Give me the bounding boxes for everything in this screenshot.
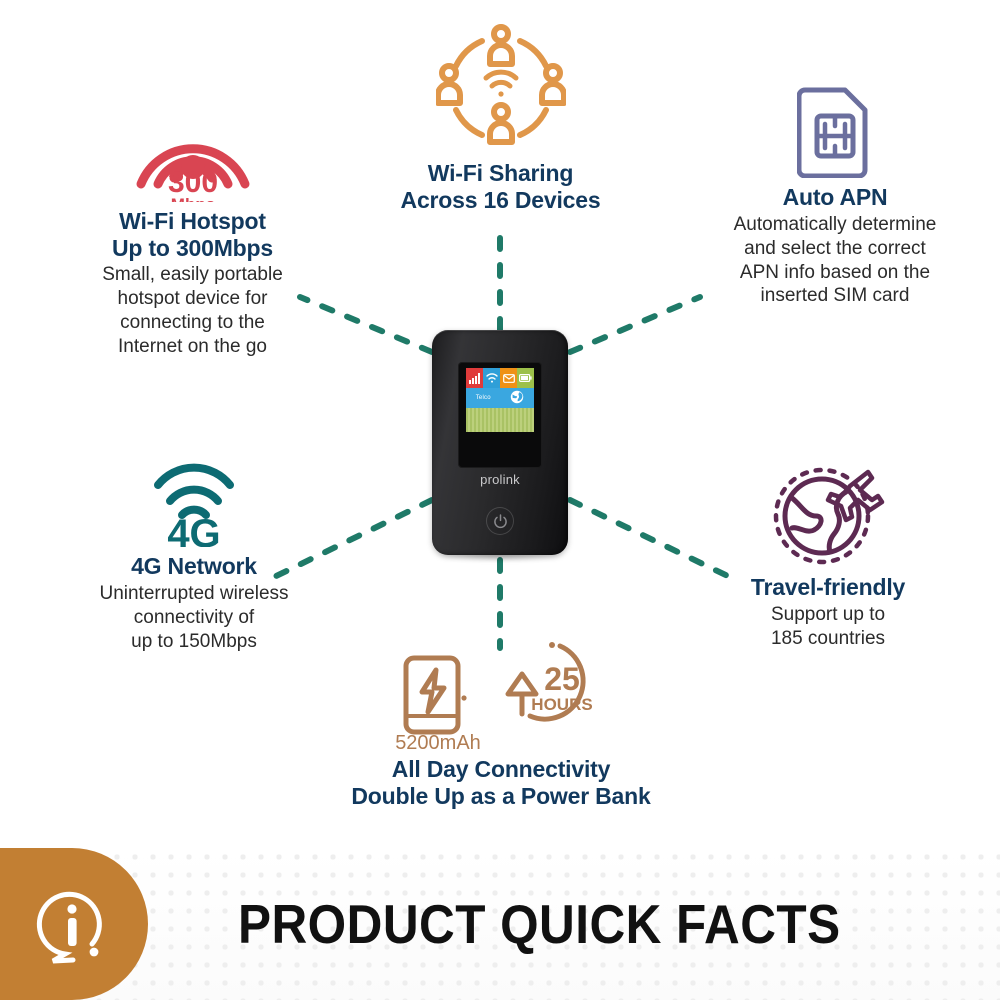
- globe-icon: [510, 390, 524, 406]
- mail-icon: [500, 368, 517, 388]
- feature-auto-apn: Auto APN Automatically determine and sel…: [690, 82, 980, 308]
- banner-title-text: PRODUCT QUICK FACTS: [238, 892, 841, 956]
- feature-travel-friendly-body: Support up to 185 countries: [692, 603, 964, 651]
- device-body: Telco proli: [432, 330, 568, 555]
- icon-label-4g: 4G: [167, 512, 220, 547]
- feature-power-bank: 5200mAh 25 HOURS All Day Connectivity Do…: [330, 638, 672, 811]
- feature-hotspot-title: Wi-Fi Hotspot Up to 300Mbps: [40, 208, 345, 261]
- icon-unit-mbps: Mbps: [170, 195, 214, 202]
- carrier-label: Telco: [476, 395, 491, 401]
- bottom-banner: PRODUCT QUICK FACTS: [0, 848, 1000, 1000]
- wifi-sharing-devices-icon: [358, 22, 643, 154]
- connector-autoapn: [570, 297, 700, 352]
- feature-power-bank-title: All Day Connectivity Double Up as a Powe…: [330, 756, 672, 809]
- sim-card-icon: [690, 82, 980, 178]
- hours-unit-label: HOURS: [531, 695, 592, 714]
- 4g-signal-icon: 4G: [58, 455, 330, 547]
- battery-capacity-label: 5200mAh: [395, 732, 481, 750]
- feature-4g-network: 4G 4G Network Uninterrupted wireless con…: [58, 455, 330, 653]
- device-brand-label: prolink: [458, 472, 542, 487]
- 25-hours-icon: 25 HOURS: [500, 638, 608, 734]
- signal-bars-icon: [466, 368, 483, 388]
- feature-travel-friendly: Travel-friendly Support up to 185 countr…: [692, 460, 964, 651]
- device-display-bezel: Telco: [458, 362, 542, 468]
- signal-waves-300mbps-icon: 300 Mbps: [40, 92, 345, 202]
- feature-hotspot: 300 Mbps Wi-Fi Hotspot Up to 300Mbps Sma…: [40, 92, 345, 359]
- feature-auto-apn-body: Automatically determine and select the c…: [690, 213, 980, 309]
- globe-airplane-travel-icon: [692, 460, 964, 568]
- device-screen: Telco: [466, 368, 534, 432]
- screen-content-area: [466, 408, 534, 432]
- product-device-image: Telco proli: [432, 330, 568, 555]
- hours-value-label: 25: [544, 661, 580, 697]
- battery-icon: [517, 368, 534, 388]
- feature-hotspot-body: Small, easily portable hotspot device fo…: [40, 263, 345, 359]
- feature-wifi-sharing-title: Wi-Fi Sharing Across 16 Devices: [358, 160, 643, 213]
- power-bank-battery-icon: 5200mAh: [394, 654, 486, 750]
- banner-title: PRODUCT QUICK FACTS: [238, 892, 908, 956]
- device-power-button[interactable]: [486, 507, 514, 535]
- feature-wifi-sharing: Wi-Fi Sharing Across 16 Devices: [358, 22, 643, 215]
- feature-4g-network-body: Uninterrupted wireless connectivity of u…: [58, 582, 330, 654]
- info-speech-bubble-icon: [32, 882, 116, 966]
- feature-4g-network-title: 4G Network: [58, 553, 330, 580]
- power-icon: [493, 514, 508, 529]
- power-bank-icon-group: 5200mAh 25 HOURS: [330, 638, 672, 750]
- feature-auto-apn-title: Auto APN: [690, 184, 980, 211]
- screen-status-tiles: [466, 368, 534, 388]
- screen-carrier-row: Telco: [466, 388, 534, 408]
- feature-travel-friendly-title: Travel-friendly: [692, 574, 964, 601]
- infographic-canvas: 300 Mbps Wi-Fi Hotspot Up to 300Mbps Sma…: [0, 0, 1000, 1000]
- banner-badge: [0, 848, 148, 1000]
- wifi-icon: [483, 368, 500, 388]
